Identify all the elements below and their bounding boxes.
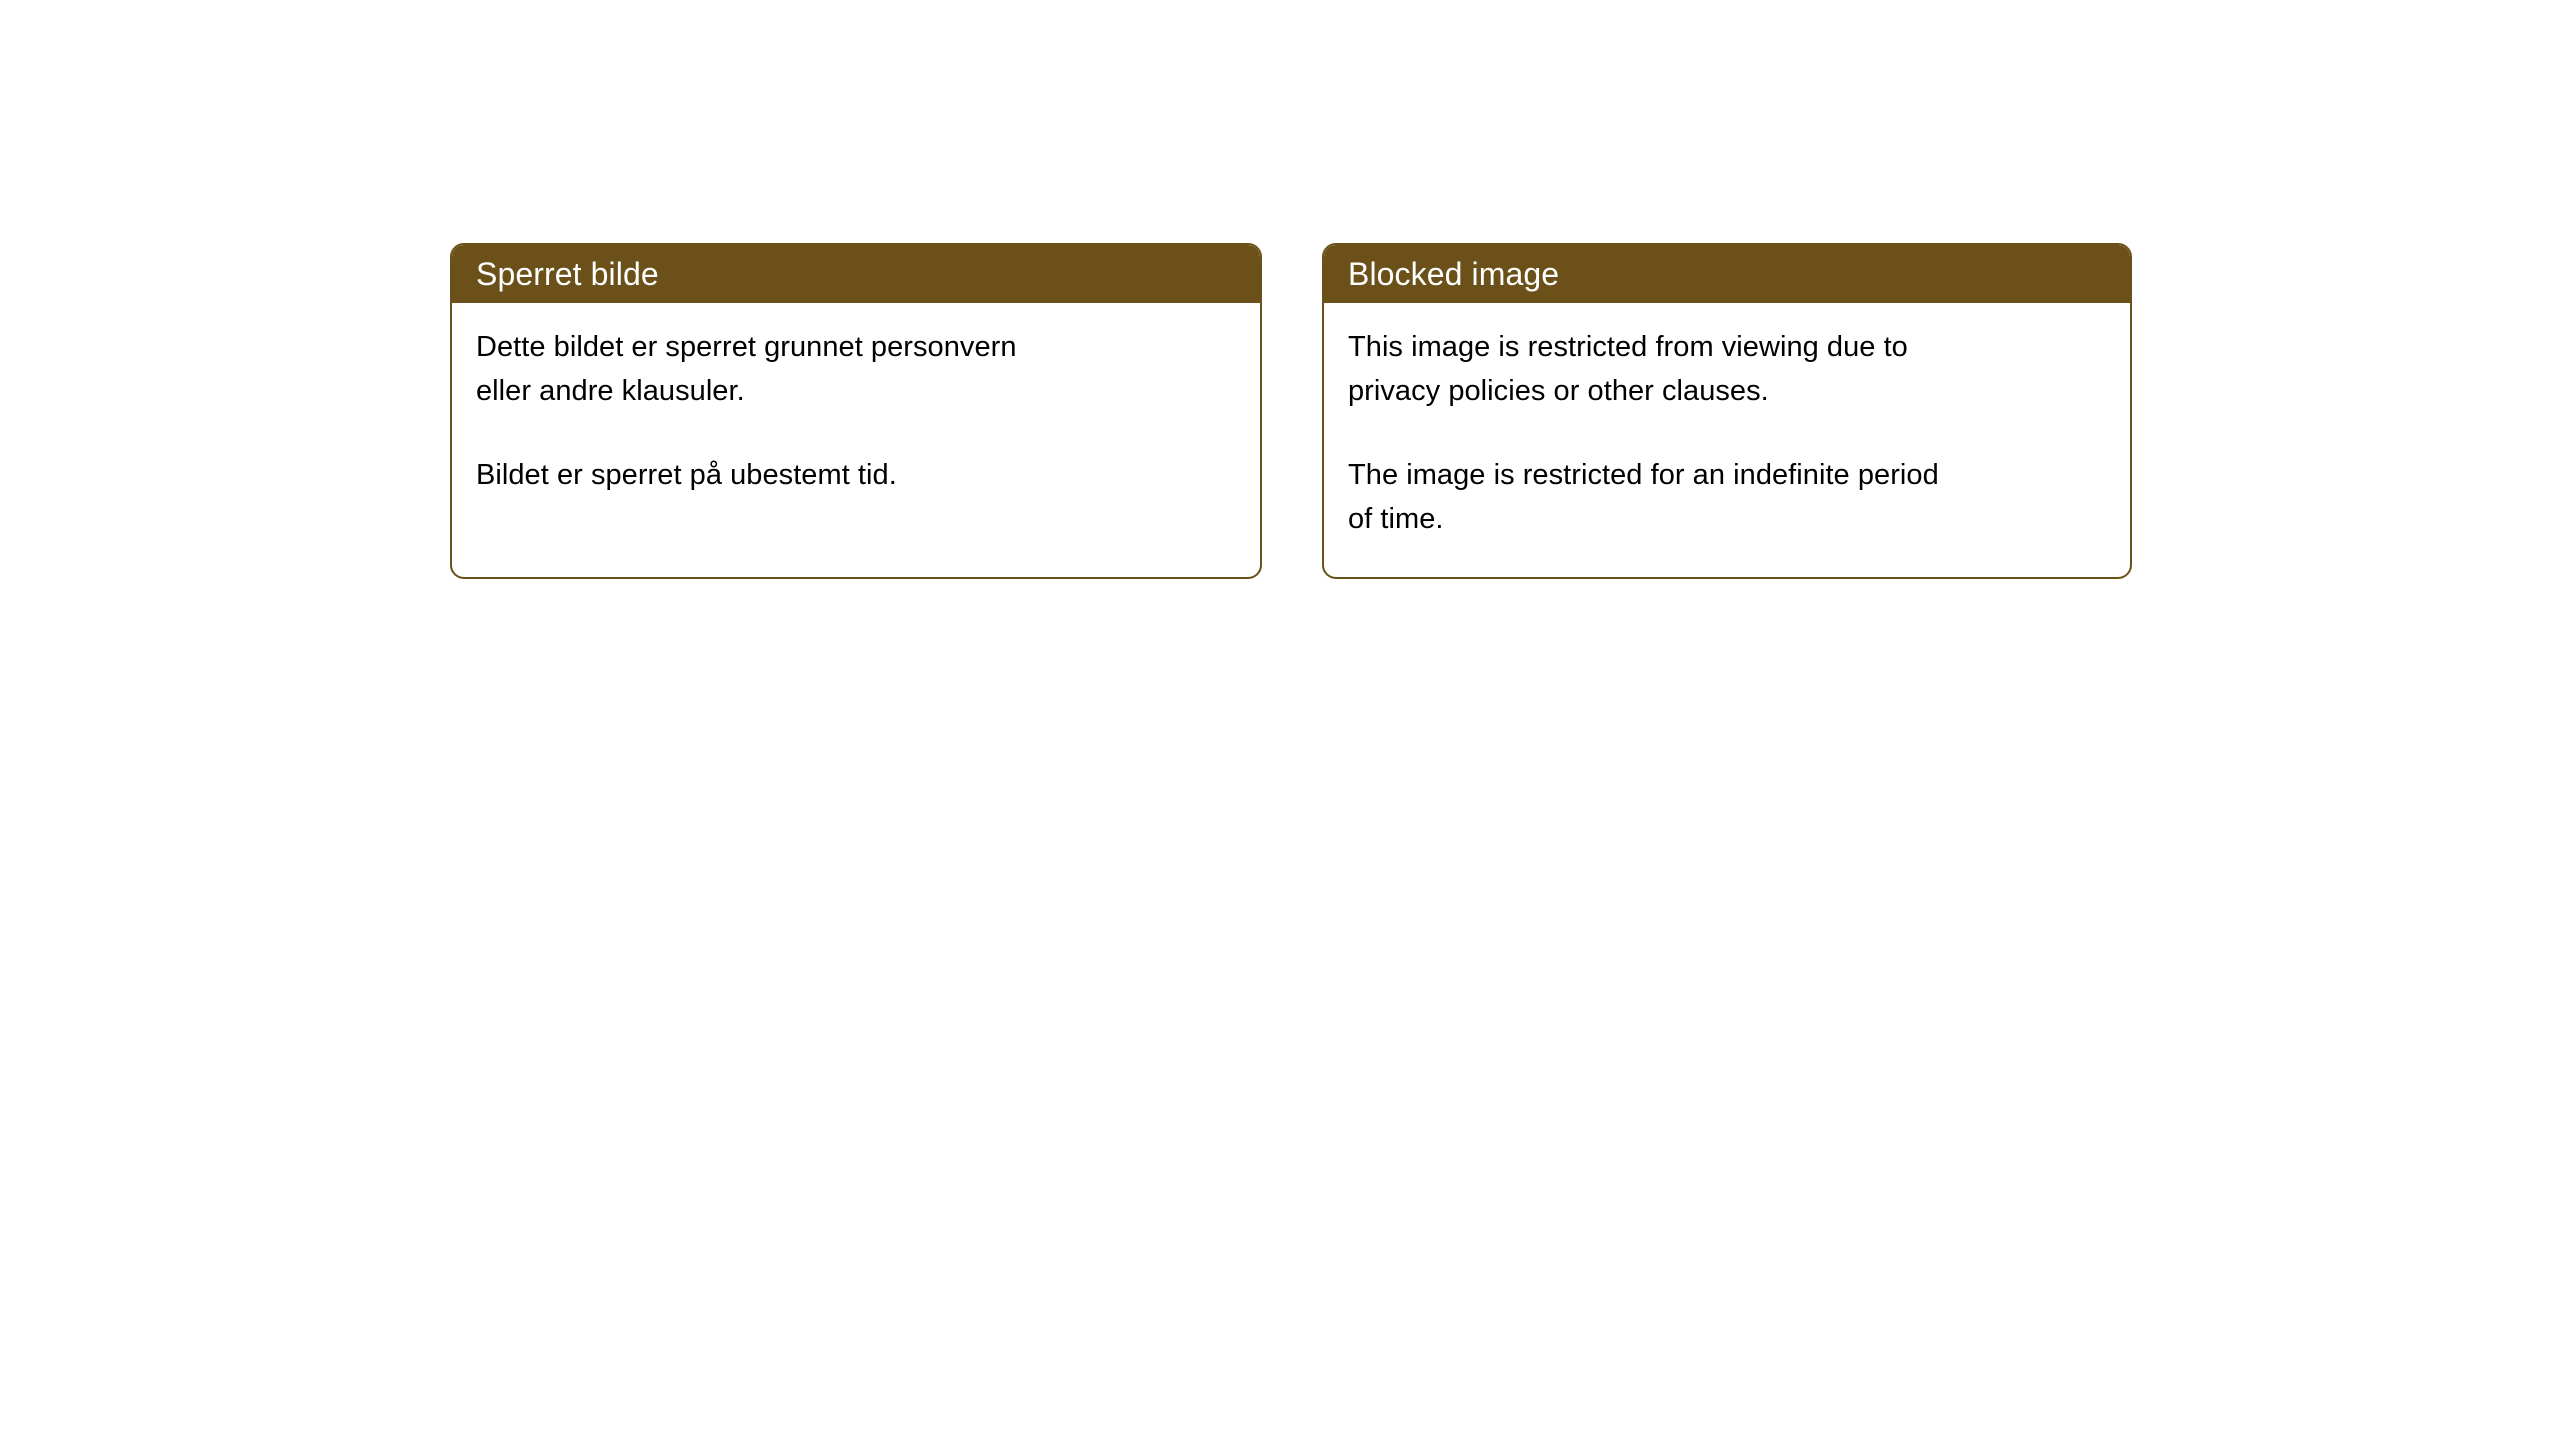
card-title-norwegian: Sperret bilde	[476, 257, 659, 291]
restriction-reason-text-norwegian: Dette bildet er sperret grunnet personve…	[476, 325, 1236, 413]
restriction-duration-text-norwegian: Bildet er sperret på ubestemt tid.	[476, 453, 1236, 497]
card-body-norwegian: Dette bildet er sperret grunnet personve…	[452, 303, 1260, 497]
blocked-image-notice-card-english: Blocked image This image is restricted f…	[1322, 243, 2132, 579]
restriction-duration-text-english: The image is restricted for an indefinit…	[1348, 453, 2106, 541]
card-header-norwegian: Sperret bilde	[452, 245, 1260, 303]
blocked-image-notice-card-norwegian: Sperret bilde Dette bildet er sperret gr…	[450, 243, 1262, 579]
card-body-english: This image is restricted from viewing du…	[1324, 303, 2130, 541]
card-title-english: Blocked image	[1348, 257, 1559, 291]
page-canvas: Sperret bilde Dette bildet er sperret gr…	[0, 0, 2560, 1440]
paragraph-spacer	[476, 413, 1236, 453]
restriction-reason-text-english: This image is restricted from viewing du…	[1348, 325, 2106, 413]
paragraph-spacer	[1348, 413, 2106, 453]
card-header-english: Blocked image	[1324, 245, 2130, 303]
